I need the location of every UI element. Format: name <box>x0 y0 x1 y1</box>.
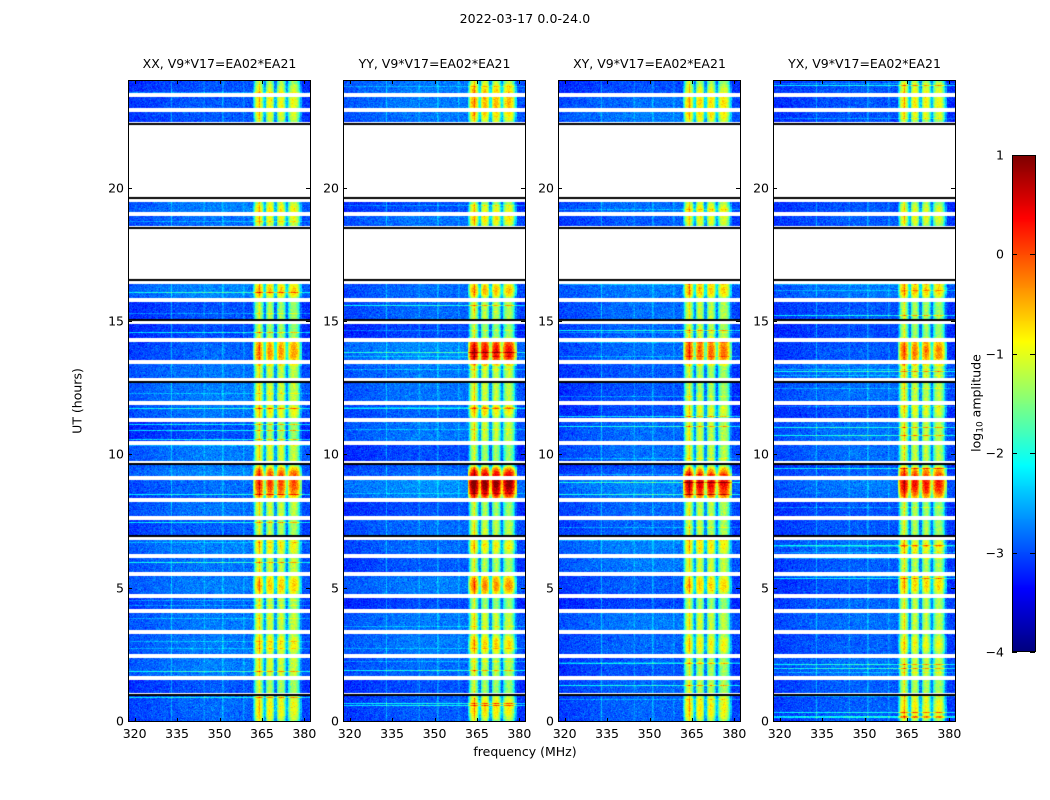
x-tick-label: 350 <box>638 726 662 741</box>
y-tick-label: 5 <box>100 580 124 595</box>
waterfall-image-xx <box>129 81 310 721</box>
y-tick-mark-right <box>306 454 310 455</box>
colorbar-tick-mark <box>1012 652 1017 653</box>
x-tick-label: 350 <box>853 726 877 741</box>
y-tick-label: 0 <box>745 714 769 729</box>
x-tick-mark-top <box>262 80 263 84</box>
x-tick-label: 380 <box>937 726 961 741</box>
y-tick-mark <box>343 188 347 189</box>
panel-title-xx: XX, V9*V17=EA02*EA21 <box>143 56 297 71</box>
colorbar-label-base: log <box>968 433 983 452</box>
y-tick-mark <box>343 588 347 589</box>
x-tick-mark <box>565 718 566 722</box>
x-tick-label: 365 <box>680 726 704 741</box>
colorbar-tick-mark-right <box>1030 354 1035 355</box>
x-tick-label: 320 <box>768 726 792 741</box>
x-tick-mark-top <box>477 80 478 84</box>
y-tick-label: 20 <box>100 180 124 195</box>
x-tick-mark <box>780 718 781 722</box>
x-tick-mark-top <box>692 80 693 84</box>
y-tick-label: 10 <box>530 447 554 462</box>
x-tick-label: 335 <box>165 726 189 741</box>
y-tick-label: 5 <box>530 580 554 595</box>
x-tick-mark <box>435 718 436 722</box>
colorbar-tick-mark-right <box>1030 453 1035 454</box>
y-tick-mark-right <box>951 588 955 589</box>
x-tick-label: 380 <box>292 726 316 741</box>
x-tick-mark <box>907 718 908 722</box>
x-tick-mark-top <box>220 80 221 84</box>
y-tick-label: 10 <box>745 447 769 462</box>
x-tick-mark-top <box>734 80 735 84</box>
y-tick-mark <box>773 188 777 189</box>
y-tick-mark <box>343 454 347 455</box>
panel-yy[interactable]: YY, V9*V17=EA02*EA21 <box>343 80 526 722</box>
y-tick-label: 10 <box>315 447 339 462</box>
y-tick-label: 15 <box>100 314 124 329</box>
y-tick-label: 5 <box>315 580 339 595</box>
x-tick-label: 380 <box>507 726 531 741</box>
y-tick-mark <box>128 454 132 455</box>
y-tick-label: 15 <box>315 314 339 329</box>
y-tick-mark-right <box>736 588 740 589</box>
y-tick-label: 20 <box>315 180 339 195</box>
figure-canvas: 2022-03-17 0.0-24.0 XX, V9*V17=EA02*EA21… <box>0 0 1050 800</box>
y-tick-mark-right <box>736 454 740 455</box>
x-tick-mark-top <box>519 80 520 84</box>
y-tick-mark <box>558 588 562 589</box>
y-tick-mark-right <box>306 188 310 189</box>
y-tick-mark-right <box>736 321 740 322</box>
x-tick-mark-top <box>135 80 136 84</box>
x-axis-label: frequency (MHz) <box>0 744 1050 759</box>
x-tick-mark <box>262 718 263 722</box>
y-tick-label: 0 <box>315 714 339 729</box>
x-tick-mark-top <box>435 80 436 84</box>
colorbar-tick-label: −3 <box>978 545 1004 560</box>
y-tick-mark <box>558 188 562 189</box>
x-tick-label: 380 <box>722 726 746 741</box>
x-tick-mark <box>477 718 478 722</box>
colorbar-tick-mark-right <box>1030 155 1035 156</box>
colorbar-tick-mark <box>1012 354 1017 355</box>
waterfall-image-yx <box>774 81 955 721</box>
y-tick-mark-right <box>951 721 955 722</box>
x-tick-mark <box>692 718 693 722</box>
x-tick-mark <box>177 718 178 722</box>
y-tick-mark-right <box>951 321 955 322</box>
colorbar-tick-label: −4 <box>978 645 1004 660</box>
y-tick-label: 0 <box>100 714 124 729</box>
x-tick-label: 320 <box>553 726 577 741</box>
panel-title-yy: YY, V9*V17=EA02*EA21 <box>359 56 511 71</box>
y-tick-label: 20 <box>745 180 769 195</box>
x-tick-mark <box>135 718 136 722</box>
colorbar-tick-mark <box>1012 254 1017 255</box>
y-tick-mark-right <box>521 321 525 322</box>
colorbar-tick-mark <box>1012 553 1017 554</box>
x-tick-label: 335 <box>380 726 404 741</box>
colorbar-tick-mark-right <box>1030 254 1035 255</box>
x-tick-mark-top <box>177 80 178 84</box>
y-tick-mark <box>773 454 777 455</box>
x-tick-mark <box>392 718 393 722</box>
y-tick-mark-right <box>521 721 525 722</box>
y-tick-mark-right <box>306 721 310 722</box>
x-tick-mark <box>350 718 351 722</box>
colorbar-label-subscript: 10 <box>976 421 986 432</box>
y-tick-mark <box>773 721 777 722</box>
panel-xy[interactable]: XY, V9*V17=EA02*EA21 <box>558 80 741 722</box>
y-tick-mark <box>558 721 562 722</box>
panel-title-yx: YX, V9*V17=EA02*EA21 <box>788 56 941 71</box>
y-tick-mark-right <box>306 321 310 322</box>
y-axis-label: UT (hours) <box>70 368 85 434</box>
x-tick-mark-top <box>822 80 823 84</box>
x-tick-label: 320 <box>338 726 362 741</box>
y-tick-mark <box>128 721 132 722</box>
x-tick-mark-top <box>865 80 866 84</box>
colorbar-label: log10 amplitude <box>968 354 985 452</box>
panel-yx[interactable]: YX, V9*V17=EA02*EA21 <box>773 80 956 722</box>
y-tick-mark <box>773 588 777 589</box>
x-tick-label: 350 <box>423 726 447 741</box>
colorbar-label-rest: amplitude <box>968 354 983 421</box>
x-tick-label: 335 <box>595 726 619 741</box>
x-tick-mark <box>822 718 823 722</box>
y-tick-mark <box>128 588 132 589</box>
y-tick-label: 15 <box>745 314 769 329</box>
x-tick-mark-top <box>392 80 393 84</box>
colorbar-tick-label: 1 <box>978 148 1004 163</box>
x-tick-mark <box>607 718 608 722</box>
y-tick-mark-right <box>306 588 310 589</box>
x-tick-mark-top <box>304 80 305 84</box>
waterfall-image-xy <box>559 81 740 721</box>
y-tick-mark <box>773 321 777 322</box>
y-tick-label: 20 <box>530 180 554 195</box>
y-tick-mark-right <box>521 454 525 455</box>
x-tick-mark-top <box>949 80 950 84</box>
y-tick-mark-right <box>951 454 955 455</box>
x-tick-mark <box>865 718 866 722</box>
x-tick-mark <box>650 718 651 722</box>
colorbar-tick-mark <box>1012 453 1017 454</box>
x-tick-mark <box>220 718 221 722</box>
x-tick-mark-top <box>565 80 566 84</box>
y-tick-mark-right <box>736 721 740 722</box>
y-tick-label: 0 <box>530 714 554 729</box>
waterfall-image-yy <box>344 81 525 721</box>
y-tick-mark <box>558 454 562 455</box>
x-tick-label: 365 <box>465 726 489 741</box>
y-tick-mark-right <box>521 188 525 189</box>
colorbar-tick-label: 0 <box>978 247 1004 262</box>
colorbar[interactable] <box>1012 155 1036 652</box>
x-tick-label: 365 <box>895 726 919 741</box>
colorbar-gradient <box>1013 156 1035 651</box>
panel-title-xy: XY, V9*V17=EA02*EA21 <box>573 56 726 71</box>
y-tick-label: 5 <box>745 580 769 595</box>
x-tick-mark-top <box>907 80 908 84</box>
y-tick-mark <box>343 321 347 322</box>
x-tick-label: 365 <box>250 726 274 741</box>
colorbar-tick-mark-right <box>1030 553 1035 554</box>
figure-suptitle: 2022-03-17 0.0-24.0 <box>0 11 1050 26</box>
panel-xx[interactable]: XX, V9*V17=EA02*EA21 <box>128 80 311 722</box>
x-tick-label: 320 <box>123 726 147 741</box>
y-tick-label: 15 <box>530 314 554 329</box>
x-tick-mark-top <box>650 80 651 84</box>
x-tick-mark-top <box>350 80 351 84</box>
y-tick-mark <box>558 321 562 322</box>
y-tick-label: 10 <box>100 447 124 462</box>
x-tick-mark-top <box>780 80 781 84</box>
x-tick-label: 350 <box>208 726 232 741</box>
y-tick-mark-right <box>736 188 740 189</box>
y-tick-mark-right <box>951 188 955 189</box>
y-tick-mark <box>343 721 347 722</box>
y-tick-mark <box>128 188 132 189</box>
x-tick-label: 335 <box>810 726 834 741</box>
y-tick-mark <box>128 321 132 322</box>
colorbar-tick-mark-right <box>1030 652 1035 653</box>
x-tick-mark-top <box>607 80 608 84</box>
colorbar-tick-mark <box>1012 155 1017 156</box>
y-tick-mark-right <box>521 588 525 589</box>
